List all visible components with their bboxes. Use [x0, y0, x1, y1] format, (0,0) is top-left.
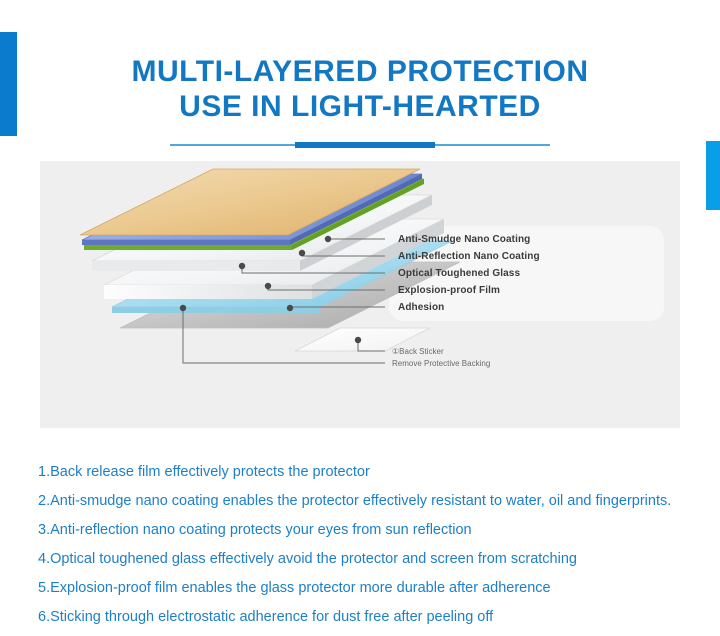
feature-item-6: 6.Sticking through electrostatic adheren… [38, 607, 688, 627]
title-divider [170, 142, 550, 148]
layer-label-anti-reflection: Anti-Reflection Nano Coating [398, 251, 540, 262]
title-line-2: USE IN LIGHT-HEARTED [0, 89, 720, 124]
page-title: MULTI-LAYERED PROTECTION USE IN LIGHT-HE… [0, 54, 720, 124]
layer-diagram-panel: Anti-Smudge Nano Coating Anti-Reflection… [40, 161, 680, 428]
layer-label-anti-smudge: Anti-Smudge Nano Coating [398, 234, 530, 245]
layer-label-optical-glass: Optical Toughened Glass [398, 268, 520, 279]
feature-item-3: 3.Anti-reflection nano coating protects … [38, 520, 688, 540]
divider-thick-segment [295, 142, 435, 148]
feature-list: 1.Back release film effectively protects… [38, 462, 688, 636]
layer-label-adhesion: Adhesion [398, 302, 444, 313]
right-accent-bar [706, 141, 720, 210]
feature-item-2: 2.Anti-smudge nano coating enables the p… [38, 491, 688, 511]
layer-label-back-sticker: ①Back Sticker [392, 347, 444, 356]
feature-item-5: 5.Explosion-proof film enables the glass… [38, 578, 688, 598]
layer-label-explosion-proof: Explosion-proof Film [398, 285, 500, 296]
feature-item-1: 1.Back release film effectively protects… [38, 462, 688, 482]
title-line-1: MULTI-LAYERED PROTECTION [0, 54, 720, 89]
layer-label-remove-backing: Remove Protective Backing [392, 359, 490, 368]
feature-item-4: 4.Optical toughened glass effectively av… [38, 549, 688, 569]
exploded-layer-illustration [40, 161, 680, 428]
